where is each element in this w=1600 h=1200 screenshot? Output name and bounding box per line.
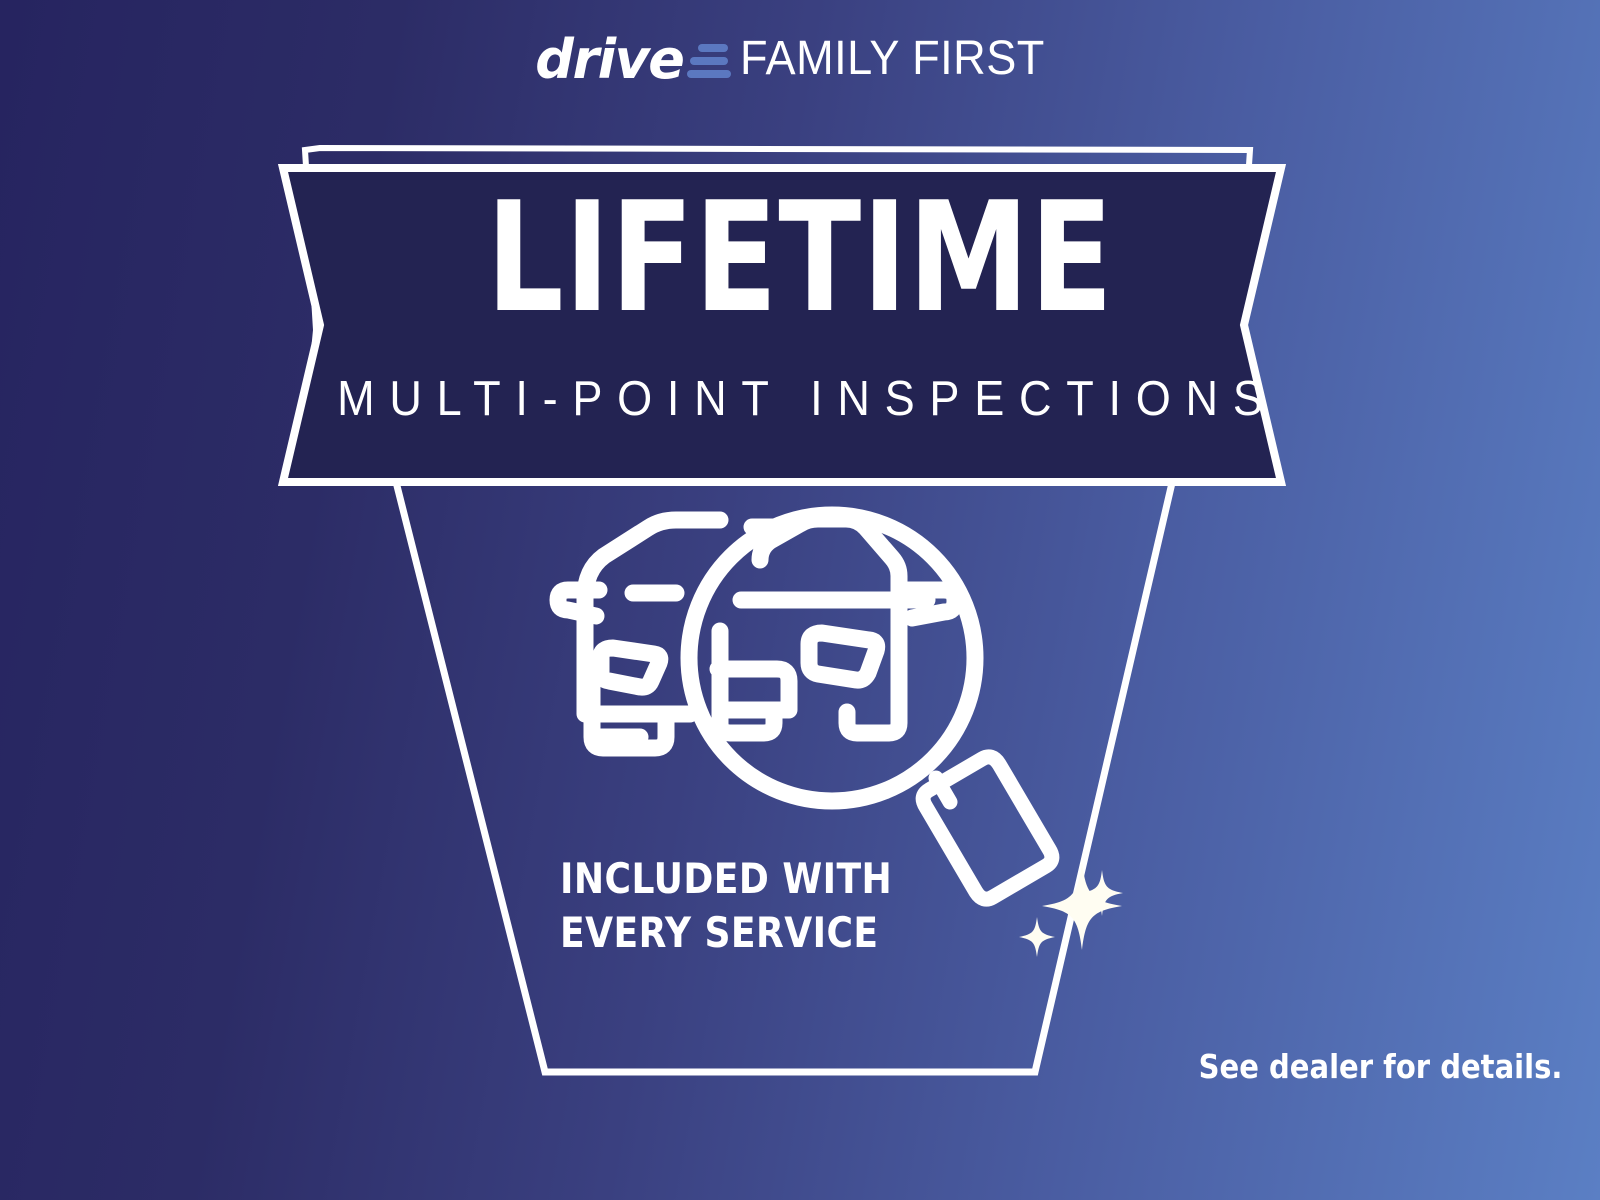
badge-caption: INCLUDED WITH EVERY SERVICE: [560, 852, 892, 960]
badge-caption-line-1: INCLUDED WITH: [560, 852, 892, 906]
magnifier-lens: [689, 515, 975, 801]
subhead-multi-point-inspections: MULTI-POINT INSPECTIONS: [64, 375, 1536, 424]
car-inspection-magnifier-icon: [558, 515, 1052, 899]
badge-trapezoid-outline: [393, 470, 1175, 1072]
headline-lifetime: LIFETIME: [160, 182, 1440, 334]
badge-caption-line-2: EVERY SERVICE: [560, 906, 892, 960]
promo-graphic: drive FAMILY FIRST: [0, 0, 1600, 1200]
disclaimer-text: See dealer for details.: [1198, 1050, 1562, 1083]
